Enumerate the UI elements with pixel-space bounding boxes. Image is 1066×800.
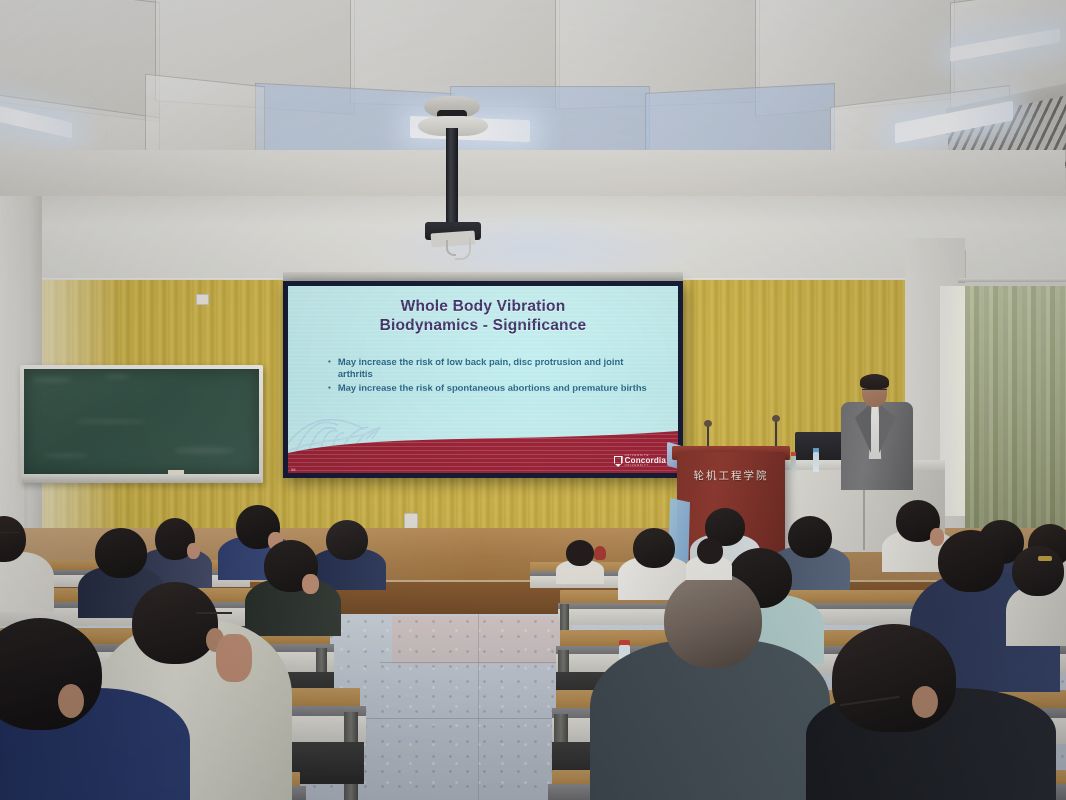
- lecture-hall-photo: Whole Body Vibration Biodynamics - Signi…: [0, 0, 1066, 800]
- red-cap-item: [594, 546, 606, 560]
- projection-screen: Whole Body Vibration Biodynamics - Signi…: [283, 281, 683, 478]
- water-bottle[interactable]: [791, 455, 796, 472]
- presentation-slide: Whole Body Vibration Biodynamics - Signi…: [288, 286, 678, 473]
- logo-post-text: UNIVERSITY: [625, 465, 666, 468]
- wall-socket[interactable]: [196, 294, 209, 305]
- bottle-cap: [791, 452, 796, 456]
- slide-bullet-list: ▪ May increase the risk of low back pain…: [328, 356, 660, 397]
- list-item: ▪ May increase the risk of low back pain…: [328, 356, 660, 379]
- shield-icon: [614, 456, 623, 467]
- slide-title-line1: Whole Body Vibration: [288, 297, 678, 316]
- wall-socket[interactable]: [404, 513, 418, 529]
- slide-number: 58: [291, 467, 295, 472]
- microphone-icon[interactable]: [704, 420, 712, 427]
- bottle-cap: [813, 448, 819, 452]
- venue-name-label: 轮机工程学院: [683, 468, 779, 483]
- bullet-marker-icon: ▪: [328, 356, 331, 379]
- blackboard-frame: [20, 365, 263, 483]
- hair-clip: [1038, 556, 1052, 561]
- eyeglasses-icon: [862, 389, 887, 394]
- bullet-text: May increase the risk of low back pain, …: [338, 356, 660, 379]
- water-bottle[interactable]: [813, 452, 819, 472]
- concordia-logo: UNIVERSITE Concordia UNIVERSITY: [614, 455, 666, 468]
- curtain-shading: [965, 282, 1066, 544]
- slide-title-line2: Biodynamics - Significance: [288, 316, 678, 335]
- slide-title: Whole Body Vibration Biodynamics - Signi…: [288, 297, 678, 335]
- microphone-icon[interactable]: [772, 415, 780, 422]
- chalk-piece[interactable]: [168, 470, 184, 474]
- bullet-marker-icon: ▪: [328, 382, 331, 394]
- bullet-text: May increase the risk of spontaneous abo…: [338, 382, 660, 394]
- chalk-tray: [22, 474, 261, 483]
- projector-cable: [446, 240, 456, 256]
- list-item: ▪ May increase the risk of spontaneous a…: [328, 382, 660, 394]
- chalkboard-surface[interactable]: [24, 369, 259, 474]
- projector-mount-pole: [446, 128, 458, 226]
- presenter-hair: [860, 374, 889, 389]
